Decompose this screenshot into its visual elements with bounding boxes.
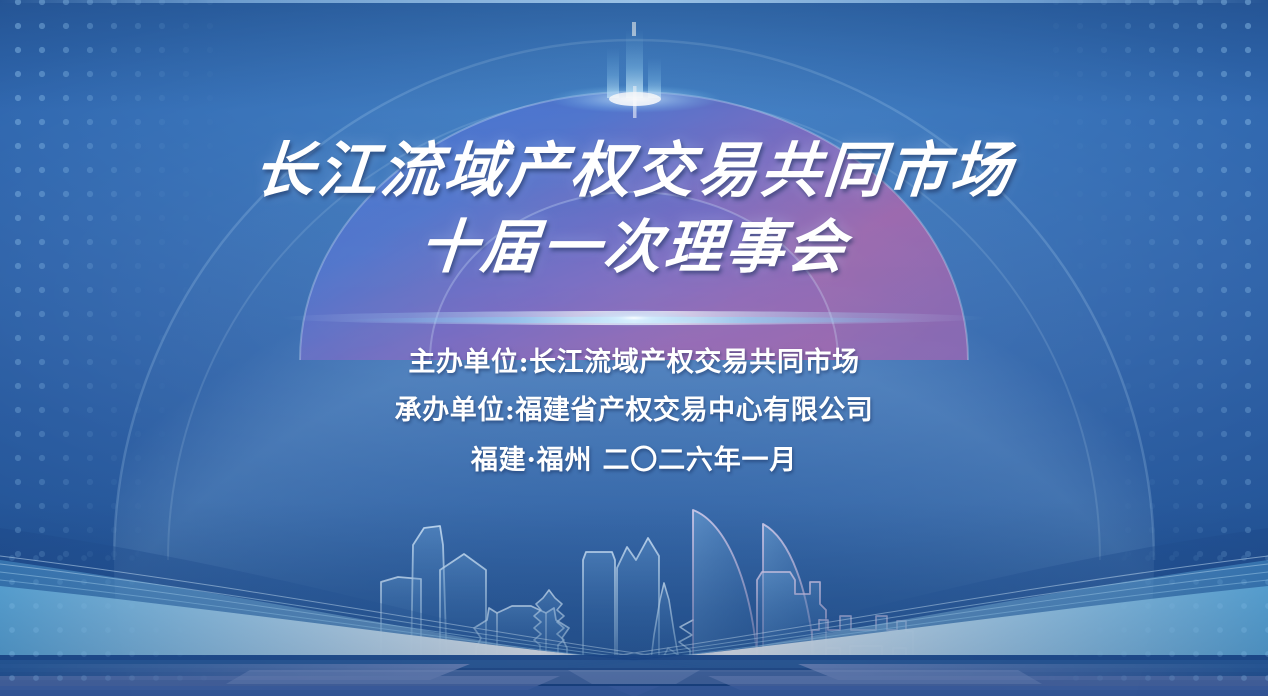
conference-backdrop: 长江流域产权交易共同市场 十届一次理事会 主办单位:长江流域产权交易共同市场 承… bbox=[0, 0, 1268, 696]
dot-grid-right bbox=[1038, 0, 1268, 560]
dot-grid-bottom-left bbox=[0, 546, 300, 696]
dot-grid-bottom-right bbox=[968, 546, 1268, 696]
dot-grid-left bbox=[0, 0, 230, 560]
